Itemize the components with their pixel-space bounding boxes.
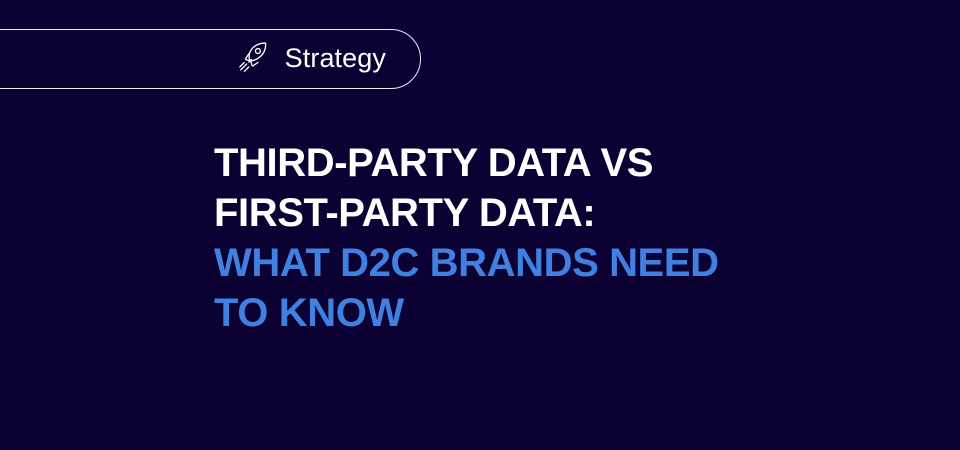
title-line-1: THIRD-PARTY DATA VS xyxy=(214,138,914,188)
rocket-icon xyxy=(234,39,272,77)
category-badge-content: Strategy xyxy=(234,39,386,77)
title-line-2: FIRST-PARTY DATA: xyxy=(214,188,914,238)
title-line-4: TO KNOW xyxy=(214,288,914,338)
page-title: THIRD-PARTY DATA VS FIRST-PARTY DATA: WH… xyxy=(214,138,914,338)
title-line-3: WHAT D2C BRANDS NEED xyxy=(214,238,914,288)
title-card: Strategy THIRD-PARTY DATA VS FIRST-PARTY… xyxy=(0,0,960,450)
category-badge[interactable]: Strategy xyxy=(0,29,421,89)
category-badge-label: Strategy xyxy=(285,45,386,72)
